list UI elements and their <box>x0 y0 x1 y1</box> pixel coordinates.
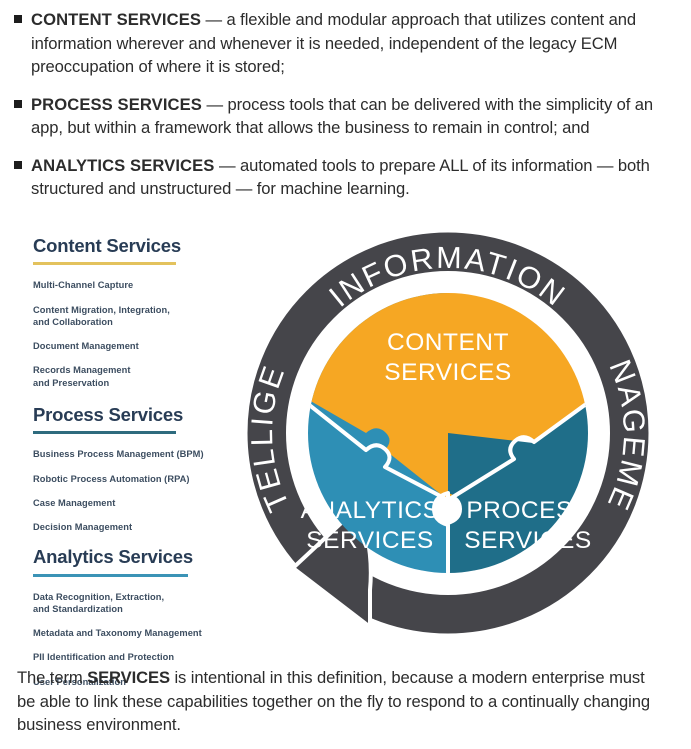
heading-underline <box>33 574 188 577</box>
square-bullet-icon <box>14 100 22 108</box>
square-bullet-icon <box>14 161 22 169</box>
closing-emphasis: SERVICES <box>87 668 170 687</box>
service-item: Records Managementand Preservation <box>33 364 233 389</box>
bullet-text: PROCESS SERVICES — process tools that ca… <box>31 93 679 140</box>
bullet-lead: ANALYTICS SERVICES <box>31 156 214 175</box>
segment-label-analytics-line2: SERVICES <box>306 527 433 554</box>
service-item: Case Management <box>33 497 233 509</box>
services-bullet-list: CONTENT SERVICES — a flexible and modula… <box>14 8 679 215</box>
service-group-heading: Analytics Services <box>33 547 233 567</box>
service-group-heading: Process Services <box>33 405 233 425</box>
service-item: Metadata and Taxonomy Management <box>33 627 233 639</box>
list-item: CONTENT SERVICES — a flexible and modula… <box>14 8 679 79</box>
list-item: PROCESS SERVICES — process tools that ca… <box>14 93 679 140</box>
services-sidebar: Content Services Multi-Channel Capture C… <box>33 236 233 700</box>
list-item: ANALYTICS SERVICES — automated tools to … <box>14 154 679 201</box>
bullet-lead: PROCESS SERVICES <box>31 95 202 114</box>
bullet-text: CONTENT SERVICES — a flexible and modula… <box>31 8 679 79</box>
segment-label-content-line2: SERVICES <box>384 359 511 386</box>
service-item: PII Identification and Protection <box>33 651 233 663</box>
service-item: Decision Management <box>33 521 233 533</box>
service-group-process: Process Services Business Process Manage… <box>33 405 233 533</box>
heading-underline <box>33 262 176 265</box>
segment-label-content-line1: CONTENT <box>387 329 509 356</box>
bullet-lead: CONTENT SERVICES <box>31 10 201 29</box>
service-item: Multi-Channel Capture <box>33 279 233 291</box>
service-group-heading: Content Services <box>33 236 233 256</box>
closing-paragraph: The term SERVICES is intentional in this… <box>17 666 667 737</box>
service-item: Data Recognition, Extraction,and Standar… <box>33 591 233 616</box>
bullet-text: ANALYTICS SERVICES — automated tools to … <box>31 154 679 201</box>
capabilities-section: Content Services Multi-Channel Capture C… <box>0 228 691 648</box>
segment-label-analytics-line1: ANALYTICS <box>301 497 440 524</box>
service-group-content: Content Services Multi-Channel Capture C… <box>33 236 233 389</box>
service-item: Document Management <box>33 340 233 352</box>
diagram-svg: INFORMATION INTELLIGENT MANAGEMENT CONTE… <box>243 228 653 643</box>
closing-before: The term <box>17 668 87 687</box>
heading-underline <box>33 431 176 434</box>
intelligent-information-management-diagram: INFORMATION INTELLIGENT MANAGEMENT CONTE… <box>243 228 653 643</box>
segment-label-process-line2: SERVICES <box>464 527 591 554</box>
service-item: Robotic Process Automation (RPA) <box>33 473 233 485</box>
segment-label-process-line1: PROCESS <box>466 497 589 524</box>
service-item: Content Migration, Integration,and Colla… <box>33 304 233 329</box>
square-bullet-icon <box>14 15 22 23</box>
service-item: Business Process Management (BPM) <box>33 448 233 460</box>
